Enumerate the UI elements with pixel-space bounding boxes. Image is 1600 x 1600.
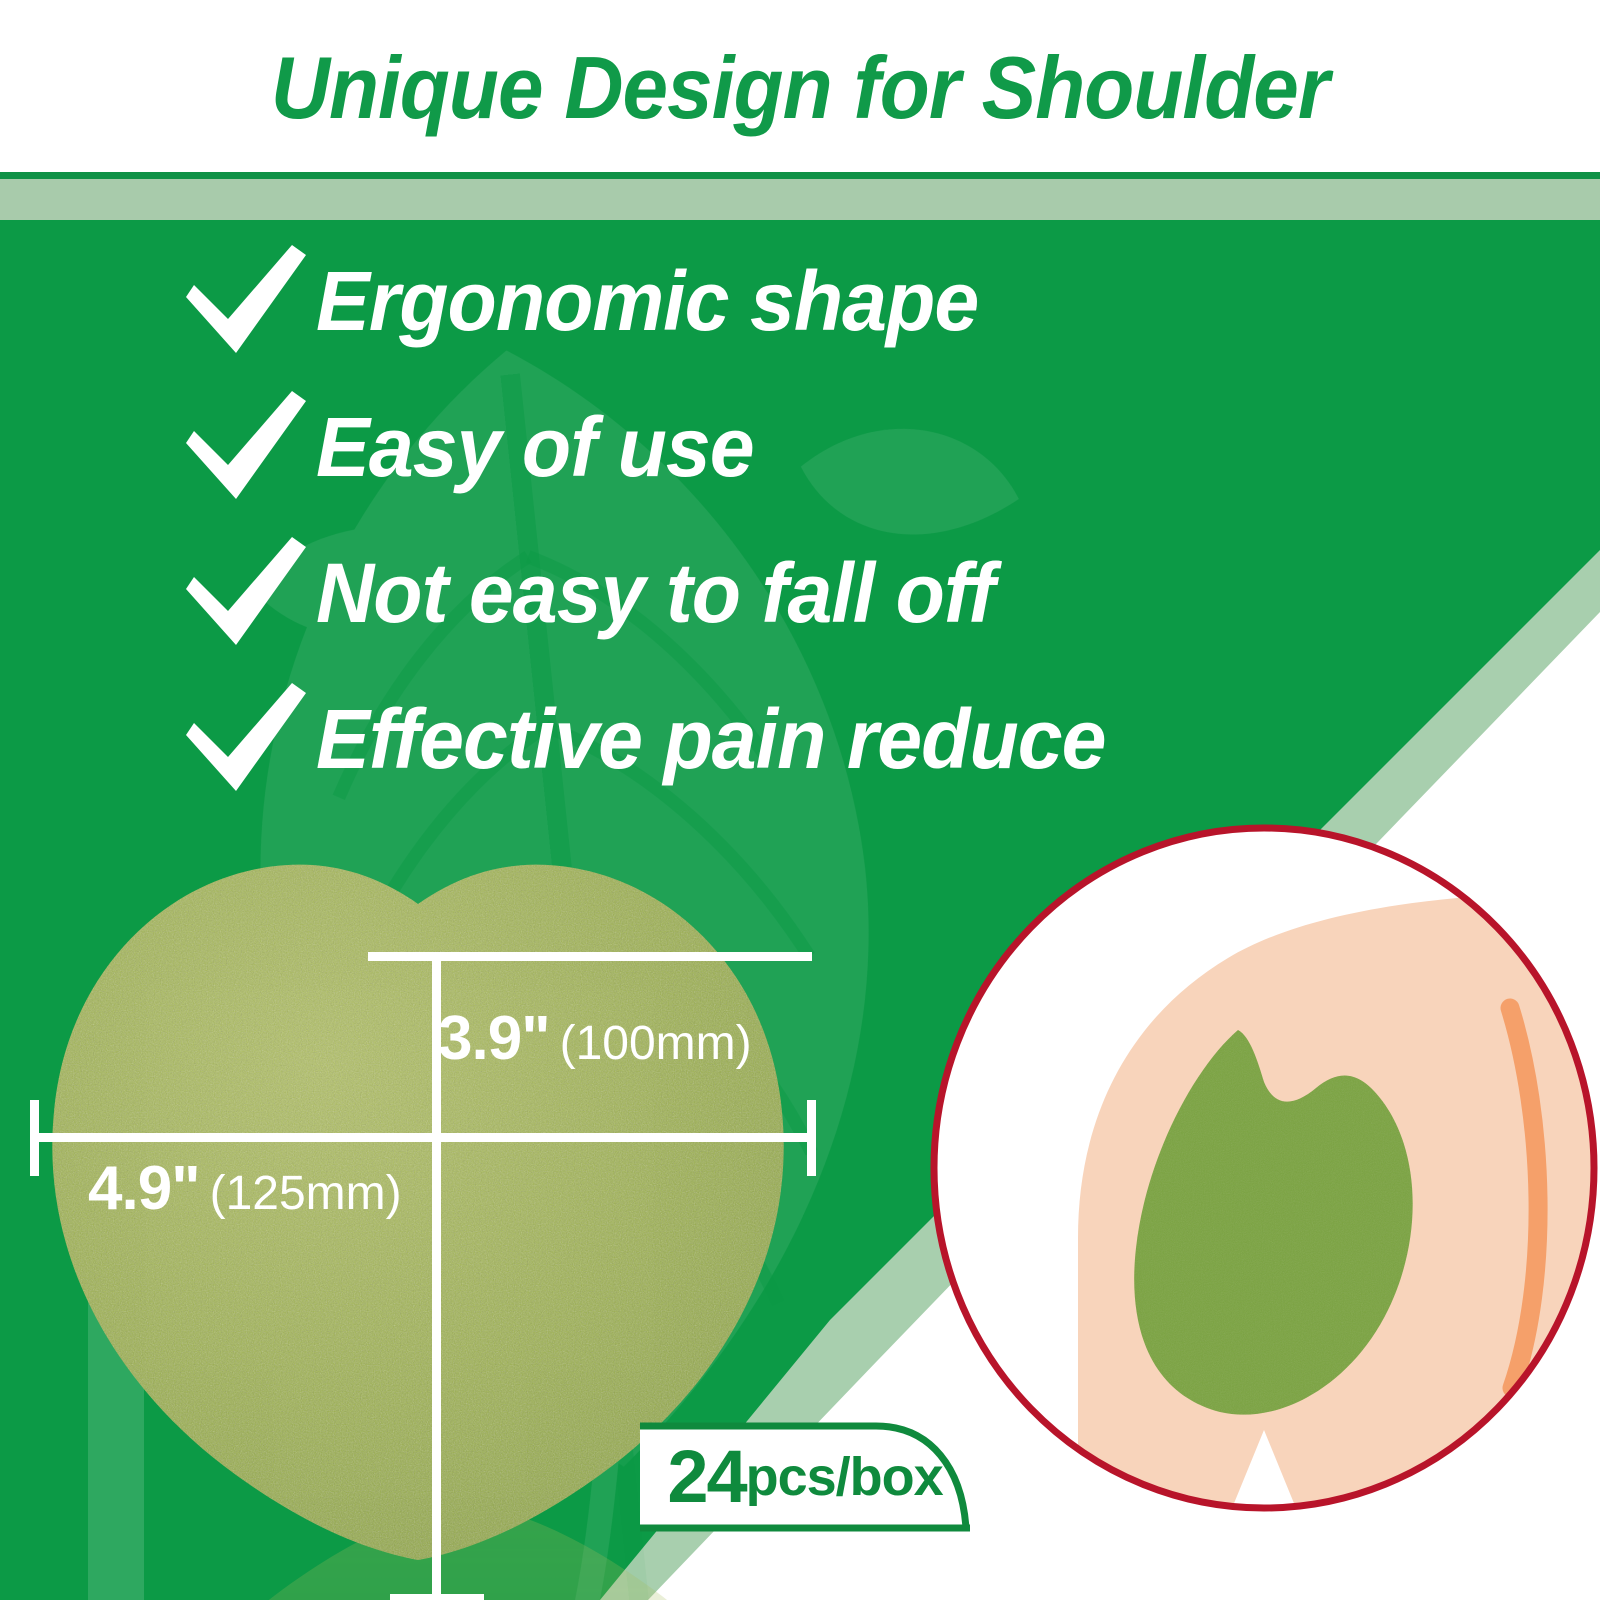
dimension-height-label: 3.9"(100mm) [438, 1008, 752, 1070]
feature-item: Effective pain reduce [0, 666, 1600, 812]
dimension-width-metric: (125mm) [210, 1167, 402, 1220]
check-icon [180, 241, 312, 361]
quantity-badge-text: 24pcs/box [640, 1418, 970, 1536]
feature-label: Easy of use [316, 405, 754, 489]
infographic-canvas: Unique Design for Shoulder Ergonomic sha… [0, 0, 1600, 1600]
check-icon [180, 679, 312, 799]
feature-label: Ergonomic shape [316, 259, 978, 343]
feature-label: Effective pain reduce [316, 697, 1106, 781]
dimension-width-label: 4.9"(125mm) [88, 1158, 402, 1220]
header-rule [0, 172, 1600, 179]
dimension-height-inches: 3.9" [438, 1004, 550, 1073]
quantity-badge: 24pcs/box [640, 1418, 970, 1536]
page-title: Unique Design for Shoulder [271, 44, 1329, 132]
dimension-height-metric: (100mm) [560, 1017, 752, 1070]
dimension-width-inches: 4.9" [88, 1154, 200, 1223]
feature-item: Not easy to fall off [0, 520, 1600, 666]
feature-item: Easy of use [0, 374, 1600, 520]
feature-item: Ergonomic shape [0, 228, 1600, 374]
header-bar: Unique Design for Shoulder [0, 0, 1600, 172]
application-inset [928, 818, 1600, 1518]
header-accent-band [0, 179, 1600, 220]
check-icon [180, 387, 312, 507]
check-icon [180, 533, 312, 653]
quantity-count: 24 [667, 1440, 745, 1514]
feature-list: Ergonomic shape Easy of use Not easy to … [0, 228, 1600, 812]
feature-label: Not easy to fall off [316, 551, 994, 635]
quantity-unit: pcs/box [746, 1450, 943, 1504]
